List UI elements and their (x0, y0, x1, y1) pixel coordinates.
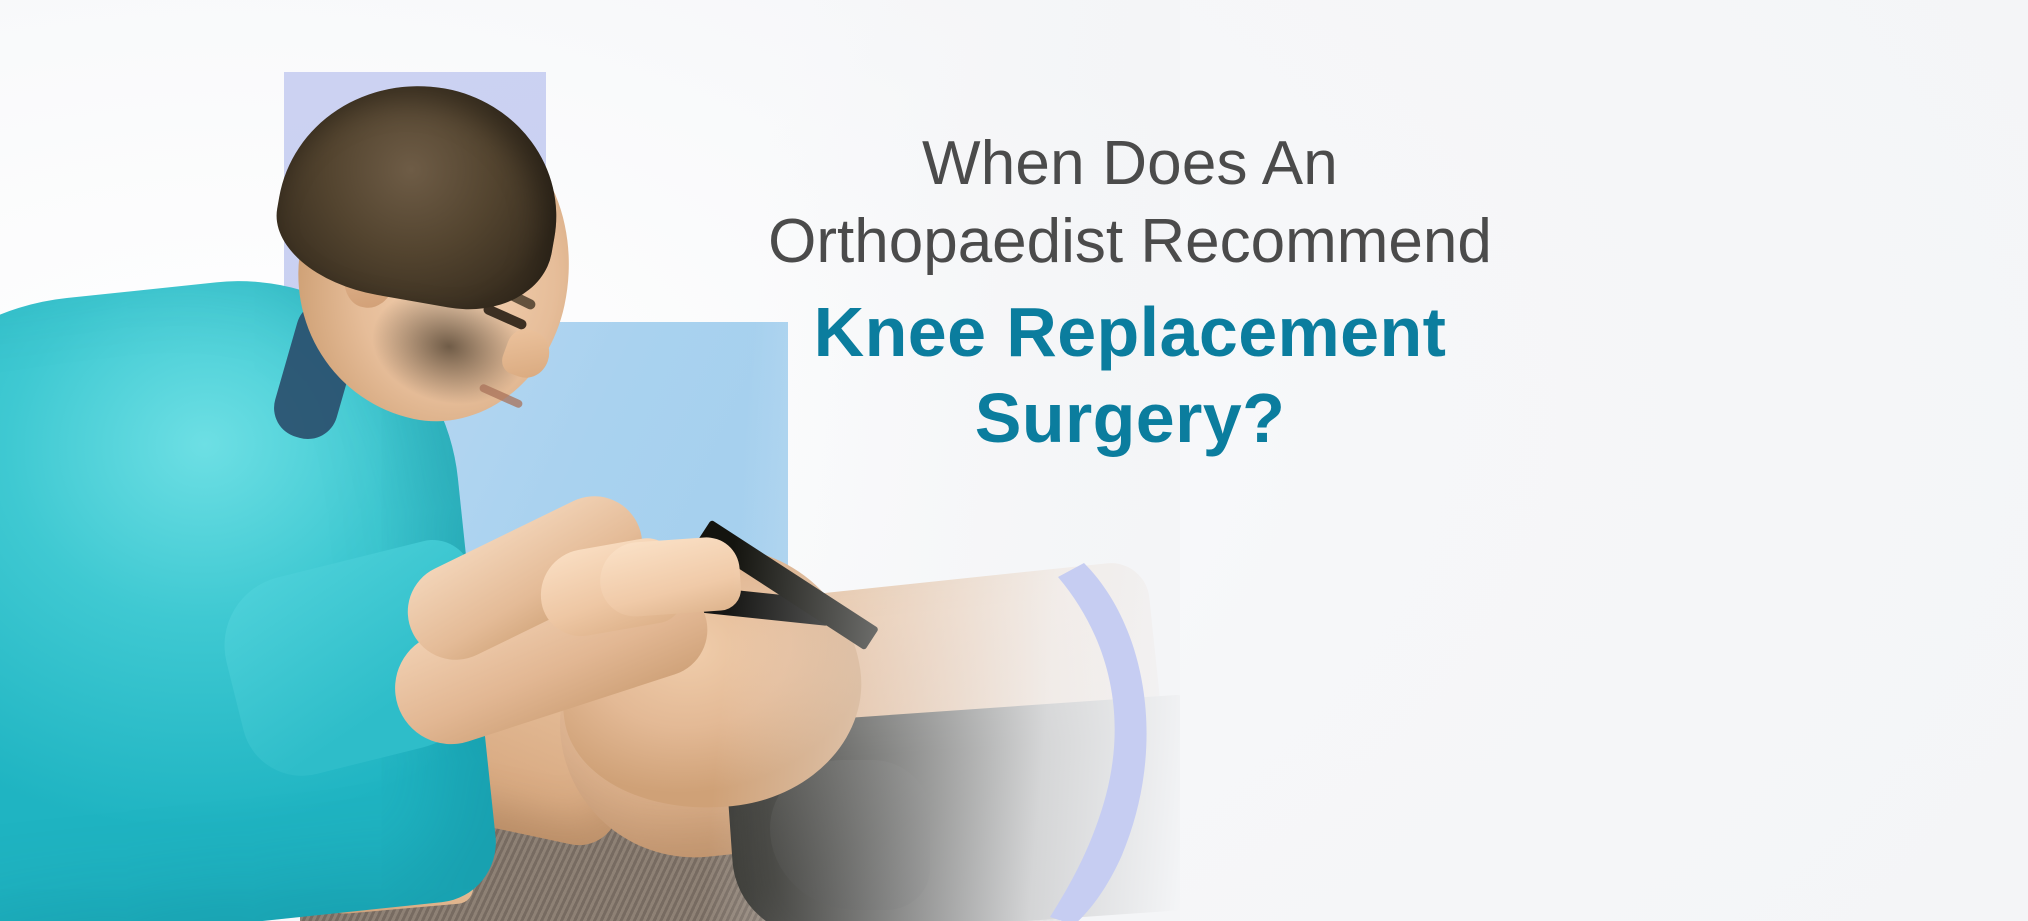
headline-line-2: Orthopaedist Recommend (640, 203, 1620, 281)
headline-line-1: When Does An (640, 125, 1620, 203)
headline-block: When Does An Orthopaedist Recommend Knee… (640, 125, 1620, 463)
banner-root: When Does An Orthopaedist Recommend Knee… (0, 0, 2028, 921)
headline-accent-line-2: Surgery? (640, 373, 1620, 463)
headline-accent-line-1: Knee Replacement (640, 287, 1620, 377)
therapist-hand-right (598, 535, 743, 619)
